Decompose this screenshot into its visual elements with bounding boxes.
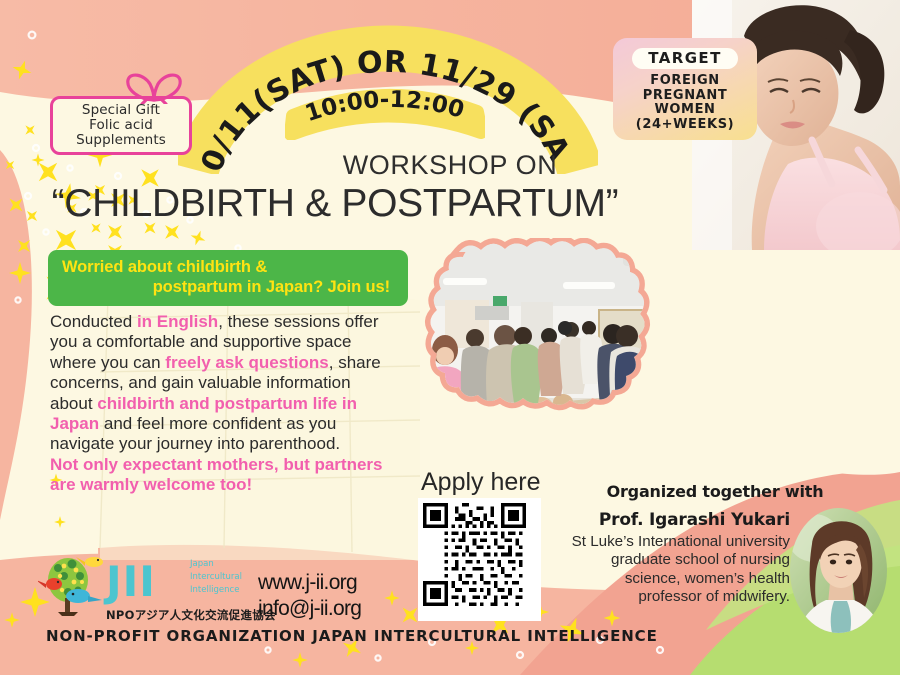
body-copy: Conducted in English, these sessions off… — [50, 312, 395, 496]
target-line2: PREGNANT — [613, 89, 757, 104]
target-line4: (24+WEEKS) — [613, 118, 757, 133]
jii-japanese-subtitle: NPOアジア人文化交流促進協会 — [106, 607, 276, 623]
gift-tag-line2: Folic acid — [53, 118, 189, 133]
body-highlight-partners-welcome: Not only expectant mothers, but partners… — [50, 455, 383, 494]
workshop-on-label: WORKSHOP ON — [0, 150, 900, 181]
green-banner-line2: postpartum in Japan? Join us! — [62, 277, 394, 297]
organizer-description: St Luke’s International university gradu… — [565, 533, 790, 607]
organized-with-label: Organized together with — [600, 482, 830, 501]
qr-code[interactable] — [418, 498, 541, 621]
page-title: “CHILDBIRTH & POSTPARTUM” — [0, 182, 670, 226]
target-audience-box: TARGET FOREIGN PREGNANT WOMEN (24+WEEKS) — [613, 38, 757, 140]
contact-info: www.j-ii.org info@j-ii.org — [258, 570, 361, 622]
ribbon-bow-icon — [118, 70, 190, 109]
body-highlight-in-english: in English — [137, 312, 218, 331]
gift-tag-line3: Supplements — [53, 133, 189, 148]
footer-organization-name: NON-PROFIT ORGANIZATION JAPAN INTERCULTU… — [46, 627, 658, 645]
email-link[interactable]: info@j-ii.org — [258, 596, 361, 622]
workshop-photo — [413, 238, 689, 470]
body-highlight-freely-ask: freely ask questions — [165, 353, 328, 372]
jii-sub-en-3: Intelligence — [190, 585, 239, 595]
poster-root: Special Gift Folic acid Supplements 10/1… — [0, 0, 900, 675]
target-pill-label: TARGET — [632, 48, 737, 69]
website-link[interactable]: www.j-ii.org — [258, 570, 361, 596]
jii-sub-en-1: Japan — [189, 559, 214, 569]
jii-mark-text: JII — [103, 557, 156, 606]
body-seg1: Conducted — [50, 312, 137, 331]
organizer-name: Prof. Igarashi Yukari — [570, 510, 790, 530]
apply-here-label: Apply here — [421, 468, 541, 497]
green-callout-banner: Worried about childbirth & postpartum in… — [48, 250, 408, 306]
target-line3: WOMEN — [613, 103, 757, 118]
jii-sub-en-2: Intercultural — [190, 572, 242, 582]
time-pill-banner: 10:00-12:00 — [285, 82, 485, 145]
green-banner-line1: Worried about childbirth & — [62, 257, 394, 277]
organizer-portrait — [790, 508, 887, 633]
target-line1: FOREIGN — [613, 74, 757, 89]
